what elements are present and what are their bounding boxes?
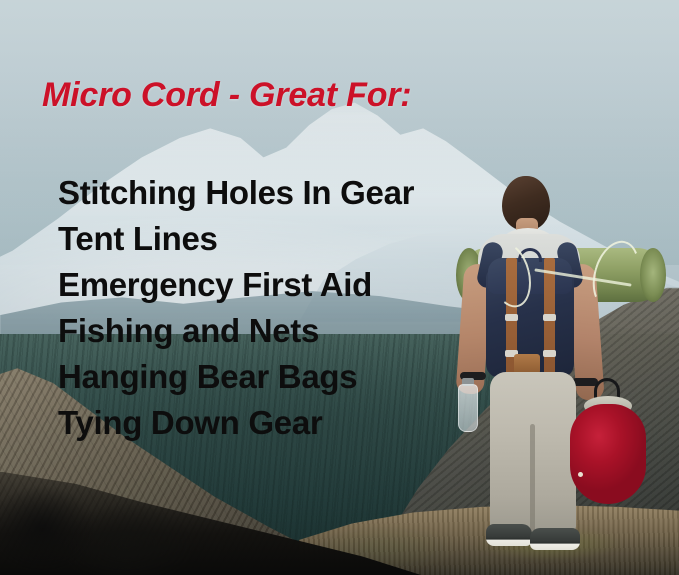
use-case-item: Tent Lines — [58, 216, 414, 262]
use-case-item: Stitching Holes In Gear — [58, 170, 414, 216]
hiker-shoe-right — [530, 528, 580, 550]
use-case-item: Emergency First Aid — [58, 262, 414, 308]
hiker-figure — [438, 172, 666, 575]
use-case-item: Fishing and Nets — [58, 308, 414, 354]
use-case-item: Tying Down Gear — [58, 400, 414, 446]
red-stuff-sack — [570, 404, 646, 504]
hiker-shoe-left — [486, 524, 532, 546]
backpack-buckle — [543, 350, 556, 357]
backpack-buckle — [505, 314, 518, 321]
stuff-sack-tag — [578, 472, 583, 477]
backpack-buckle — [543, 314, 556, 321]
poster-headline: Micro Cord - Great For: — [42, 76, 411, 115]
product-feature-poster: Micro Cord - Great For: Stitching Holes … — [0, 0, 679, 575]
sleeping-mat-end-right — [640, 248, 666, 302]
backpack-logo-patch — [514, 354, 540, 374]
pant-leg-seam — [530, 424, 535, 532]
use-case-list: Stitching Holes In Gear Tent Lines Emerg… — [58, 170, 414, 446]
water-bottle — [458, 384, 478, 432]
use-case-item: Hanging Bear Bags — [58, 354, 414, 400]
